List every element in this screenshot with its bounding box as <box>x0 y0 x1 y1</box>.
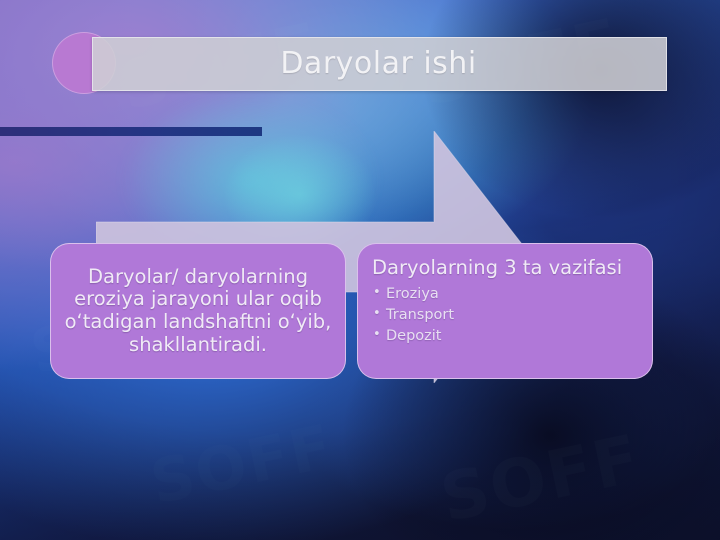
bullet-item: Depozit <box>372 326 638 347</box>
page-title: Daryolar ishi <box>92 37 665 89</box>
diagram-left-box[interactable]: Daryolar/ daryolarning eroziya jarayoni … <box>50 243 346 379</box>
bullet-item: Eroziya <box>372 284 638 305</box>
diagram-right-box-bullet-list: EroziyaTransportDepozit <box>372 284 638 348</box>
presentation-slide: SOFFSOFFSOFFSOFFSOFF Daryolar ishi Daryo… <box>0 0 720 540</box>
diagram-left-box-text: Daryolar/ daryolarning eroziya jarayoni … <box>61 266 335 356</box>
bullet-item: Transport <box>372 305 638 326</box>
diagram-right-box[interactable]: Daryolarning 3 ta vazifasi EroziyaTransp… <box>357 243 653 379</box>
diagram-right-box-heading: Daryolarning 3 ta vazifasi <box>372 257 638 280</box>
